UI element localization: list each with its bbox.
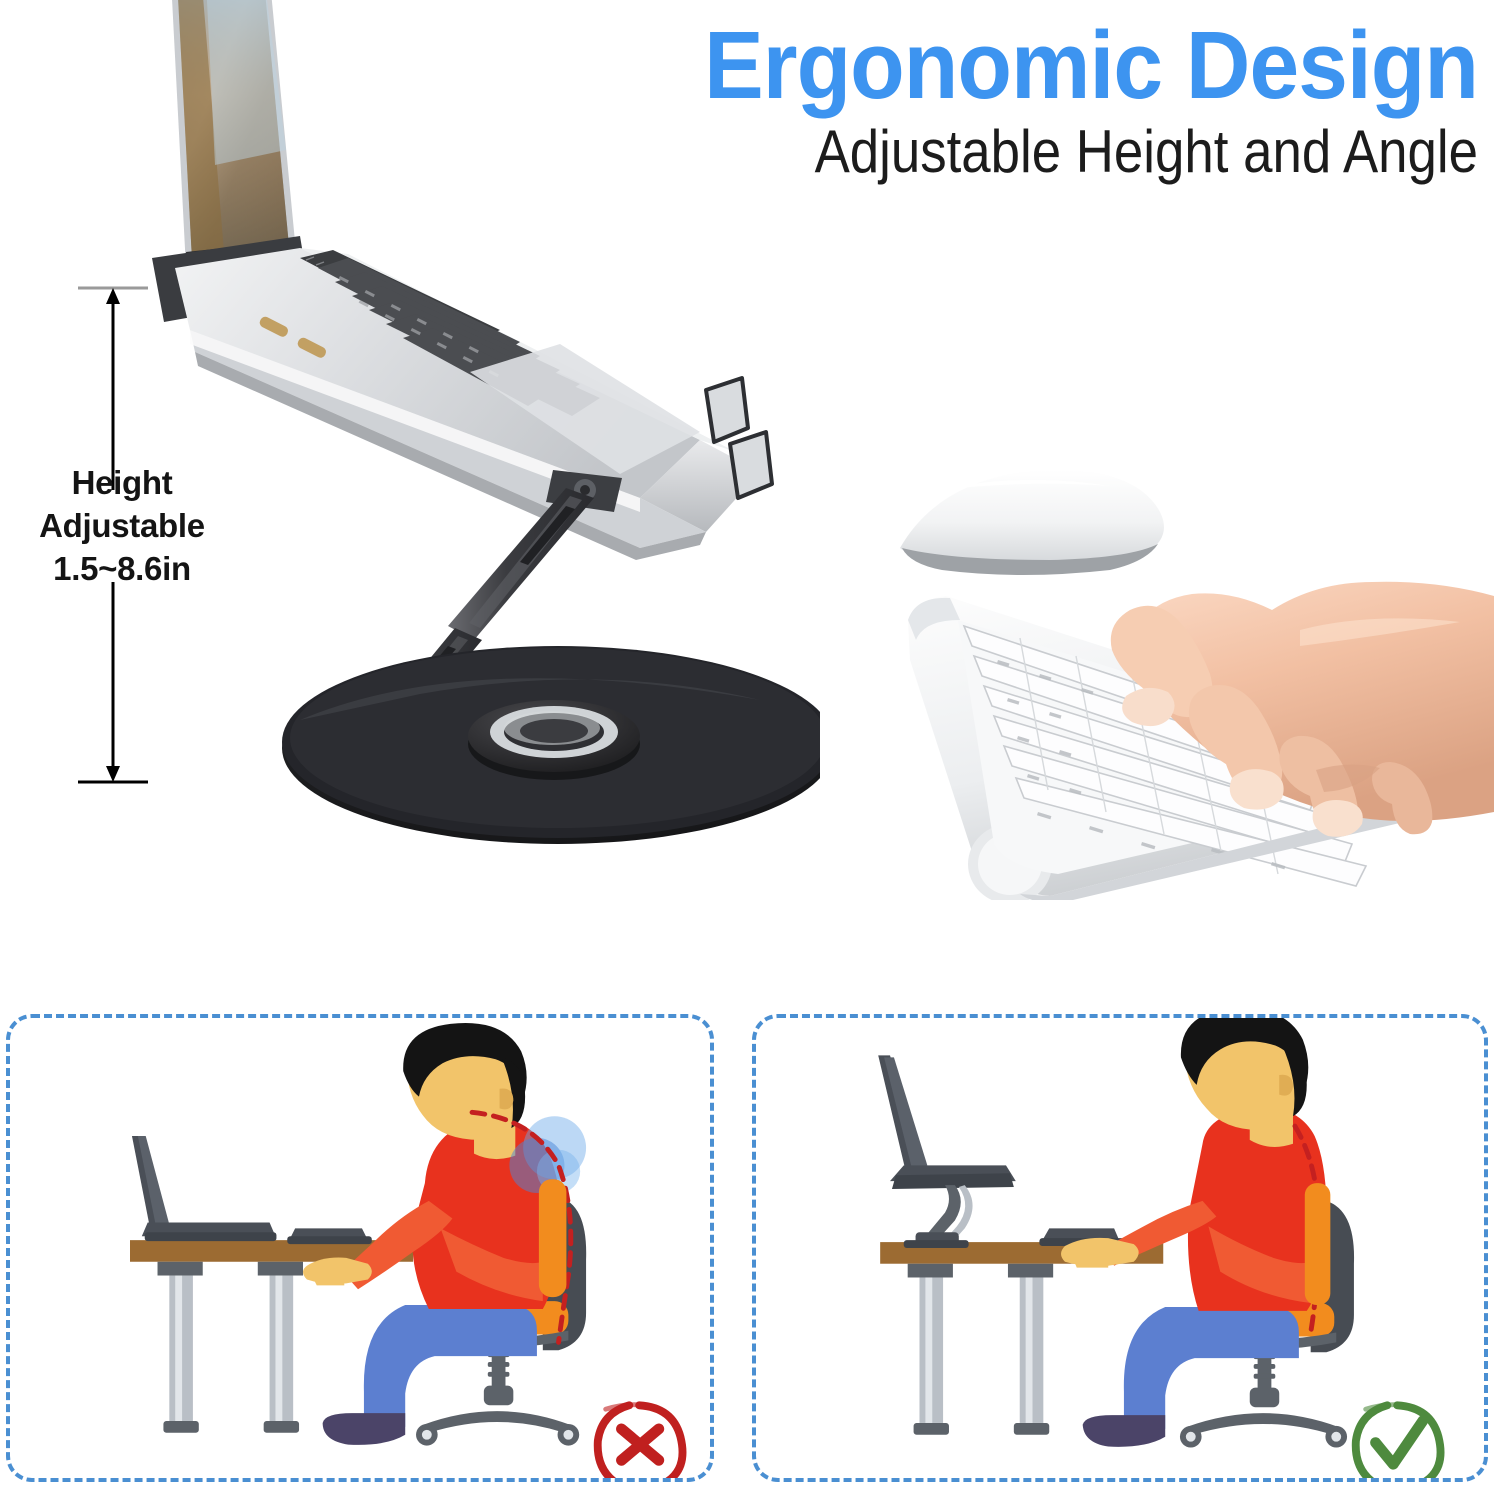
laptop-body bbox=[152, 236, 760, 560]
lumbar-pad-good bbox=[1305, 1183, 1331, 1305]
height-label-line2: Adjustable bbox=[6, 505, 238, 548]
check-mark-icon bbox=[1356, 1405, 1441, 1478]
lumbar-pad-bad bbox=[539, 1179, 567, 1297]
desk-good bbox=[880, 1242, 1163, 1435]
keyboard-on-desk-bad bbox=[287, 1228, 372, 1244]
height-label-line1: Height bbox=[6, 462, 238, 505]
laptop-on-stand-good bbox=[878, 1055, 1016, 1248]
magic-mouse bbox=[900, 470, 1164, 575]
product-illustration-keyboard-hand bbox=[880, 460, 1494, 900]
correct-posture-panel bbox=[752, 1014, 1488, 1482]
keyboard-hand-svg bbox=[880, 460, 1494, 900]
wireless-charging-pad bbox=[468, 700, 640, 780]
laptop-on-desk-bad bbox=[132, 1136, 276, 1241]
incorrect-posture-panel bbox=[6, 1014, 714, 1482]
height-adjustable-label: Height Adjustable 1.5~8.6in bbox=[6, 462, 238, 591]
correct-posture-svg bbox=[756, 1018, 1484, 1478]
height-label-line3: 1.5~8.6in bbox=[6, 548, 238, 591]
incorrect-posture-svg bbox=[10, 1018, 710, 1478]
x-mark-icon bbox=[598, 1405, 683, 1478]
